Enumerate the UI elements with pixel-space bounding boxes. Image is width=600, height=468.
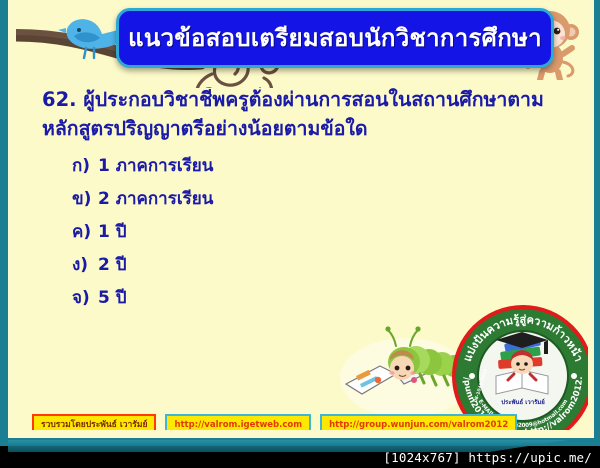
footer-credit-bar: รวบรวมโดยประพันธ์ เวารัมย์ http://valrom… [32, 414, 517, 430]
image-watermark: [1024x767] https://upic.me/ [383, 450, 592, 465]
website-link-1[interactable]: http://valrom.igetweb.com [165, 414, 311, 430]
choice-item-2[interactable]: ค) 1 ปี [72, 224, 492, 241]
slide-canvas: แนวข้อสอบเตรียมสอบนักวิชาการศึกษา 62. ผู… [16, 0, 588, 430]
choice-label: 1 ปี [98, 224, 127, 241]
title-banner: แนวข้อสอบเตรียมสอบนักวิชาการศึกษา [116, 8, 554, 68]
screenshot-root: แนวข้อสอบเตรียมสอบนักวิชาการศึกษา 62. ผู… [0, 0, 600, 468]
seal-center-name: ประพันธ์ เวารัมย์ [501, 398, 545, 406]
choice-item-0[interactable]: ก) 1 ภาคการเรียน [72, 158, 492, 175]
choice-list: ก) 1 ภาคการเรียน ข) 2 ภาคการเรียน ค) 1 ป… [72, 158, 492, 323]
organization-seal: แบ่งปันความรู้สู่ความก้าวหน้า http://pun… [448, 300, 588, 430]
author-credit-box: รวบรวมโดยประพันธ์ เวารัมย์ [32, 414, 156, 430]
question-line-1: 62. ผู้ประกอบวิชาชีพครูต้องผ่านการสอนในส… [42, 86, 588, 115]
choice-label: 2 ปี [98, 257, 127, 274]
question-line-2: หลักสูตรปริญญาตรีอย่างน้อยตามข้อใด [42, 115, 588, 144]
choice-label: 1 ภาคการเรียน [98, 158, 213, 175]
slide-frame: แนวข้อสอบเตรียมสอบนักวิชาการศึกษา 62. ผู… [0, 0, 600, 446]
choice-key: ก) [72, 158, 98, 175]
choice-key: ง) [72, 257, 98, 274]
question-text: 62. ผู้ประกอบวิชาชีพครูต้องผ่านการสอนในส… [42, 86, 588, 144]
website-link-2[interactable]: http://group.wunjun.com/valrom2012 [320, 414, 517, 430]
choice-item-4[interactable]: จ) 5 ปี [72, 290, 492, 307]
choice-label: 5 ปี [98, 290, 127, 307]
choice-key: ข) [72, 191, 98, 208]
choice-key: จ) [72, 290, 98, 307]
choice-label: 2 ภาคการเรียน [98, 191, 213, 208]
choice-item-3[interactable]: ง) 2 ปี [72, 257, 492, 274]
choice-key: ค) [72, 224, 98, 241]
page-title: แนวข้อสอบเตรียมสอบนักวิชาการศึกษา [128, 26, 542, 50]
choice-item-1[interactable]: ข) 2 ภาคการเรียน [72, 191, 492, 208]
